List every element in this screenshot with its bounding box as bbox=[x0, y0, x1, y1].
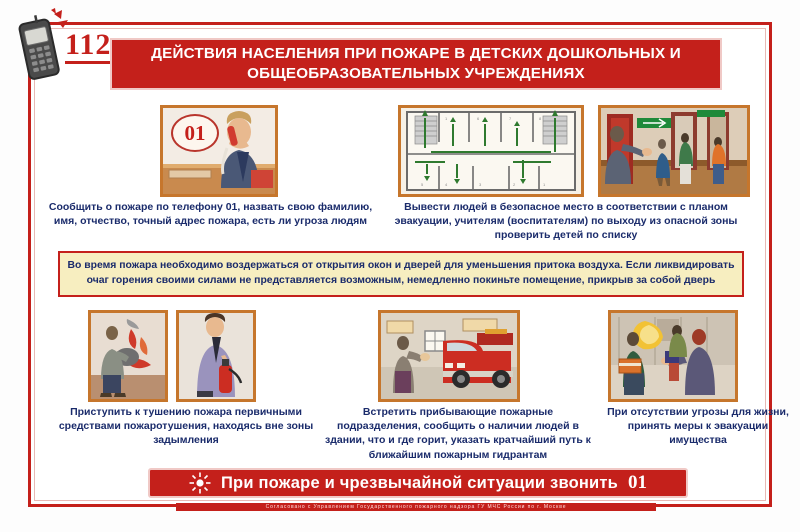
page-title: ДЕЙСТВИЯ НАСЕЛЕНИЯ ПРИ ПОЖАРЕ В ДЕТСКИХ … bbox=[110, 38, 722, 90]
caption-evacuate-property: При отсутствии угрозы для жизни, принять… bbox=[600, 405, 796, 448]
floor-plan-with-evacuation-arrows: 1678 54321 bbox=[401, 108, 581, 194]
emergency-number-112: 112 bbox=[65, 30, 111, 64]
emergency-call-banner-number: 01 bbox=[628, 472, 647, 494]
caption-evacuation-plan: Вывести людей в безопасное место в соотв… bbox=[380, 200, 752, 243]
fire-truck-illustration bbox=[381, 313, 517, 399]
caption-meet-fire-brigade: Встретить прибывающие пожарные подраздел… bbox=[322, 405, 594, 462]
smothering-fire-illustration bbox=[91, 313, 165, 399]
emergency-call-banner: При пожаре и чрезвычайной ситуации звони… bbox=[148, 468, 688, 498]
fire-safety-poster: 112 ДЕЙСТВИЯ НАСЕЛЕНИЯ ПРИ ПОЖАРЕ В ДЕТС… bbox=[0, 0, 800, 532]
footer-approval-text: Согласовано с Управлением Государственно… bbox=[266, 504, 567, 510]
illustration-fire-extinguisher-use bbox=[176, 310, 256, 402]
emergency-call-badge: 112 bbox=[10, 8, 120, 88]
sun-burst-icon bbox=[189, 472, 211, 494]
illustration-evacuate-property bbox=[608, 310, 738, 402]
page-title-text: ДЕЙСТВИЯ НАСЕЛЕНИЯ ПРИ ПОЖАРЕ В ДЕТСКИХ … bbox=[112, 44, 720, 84]
emergency-call-banner-text: При пожаре и чрезвычайной ситуации звони… bbox=[221, 474, 618, 493]
footer-approval-strip: Согласовано с Управлением Государственно… bbox=[176, 503, 656, 511]
fire-safety-notice-text: Во время пожара необходимо воздержаться … bbox=[66, 259, 736, 289]
corridor-evacuation-illustration bbox=[601, 108, 747, 194]
illustration-corridor-evacuation bbox=[598, 105, 750, 197]
caption-first-aid-firefighting: Приступить к тушению пожара первичными с… bbox=[40, 405, 332, 448]
carrying-property-illustration bbox=[611, 313, 735, 399]
badge-01-text: 01 bbox=[185, 121, 206, 146]
fire-safety-notice: Во время пожара необходимо воздержаться … bbox=[58, 251, 744, 297]
badge-01: 01 bbox=[171, 114, 219, 152]
signal-burst-icon bbox=[51, 8, 68, 28]
illustration-call-fire-department: 01 bbox=[160, 105, 278, 197]
caption-call-fire-department: Сообщить о пожаре по телефону 01, назват… bbox=[48, 200, 373, 228]
illustration-evacuation-plan: 1678 54321 bbox=[398, 105, 584, 197]
illustration-smother-fire-blanket bbox=[88, 310, 168, 402]
man-with-extinguisher-illustration bbox=[179, 313, 253, 399]
illustration-meet-fire-brigade bbox=[378, 310, 520, 402]
